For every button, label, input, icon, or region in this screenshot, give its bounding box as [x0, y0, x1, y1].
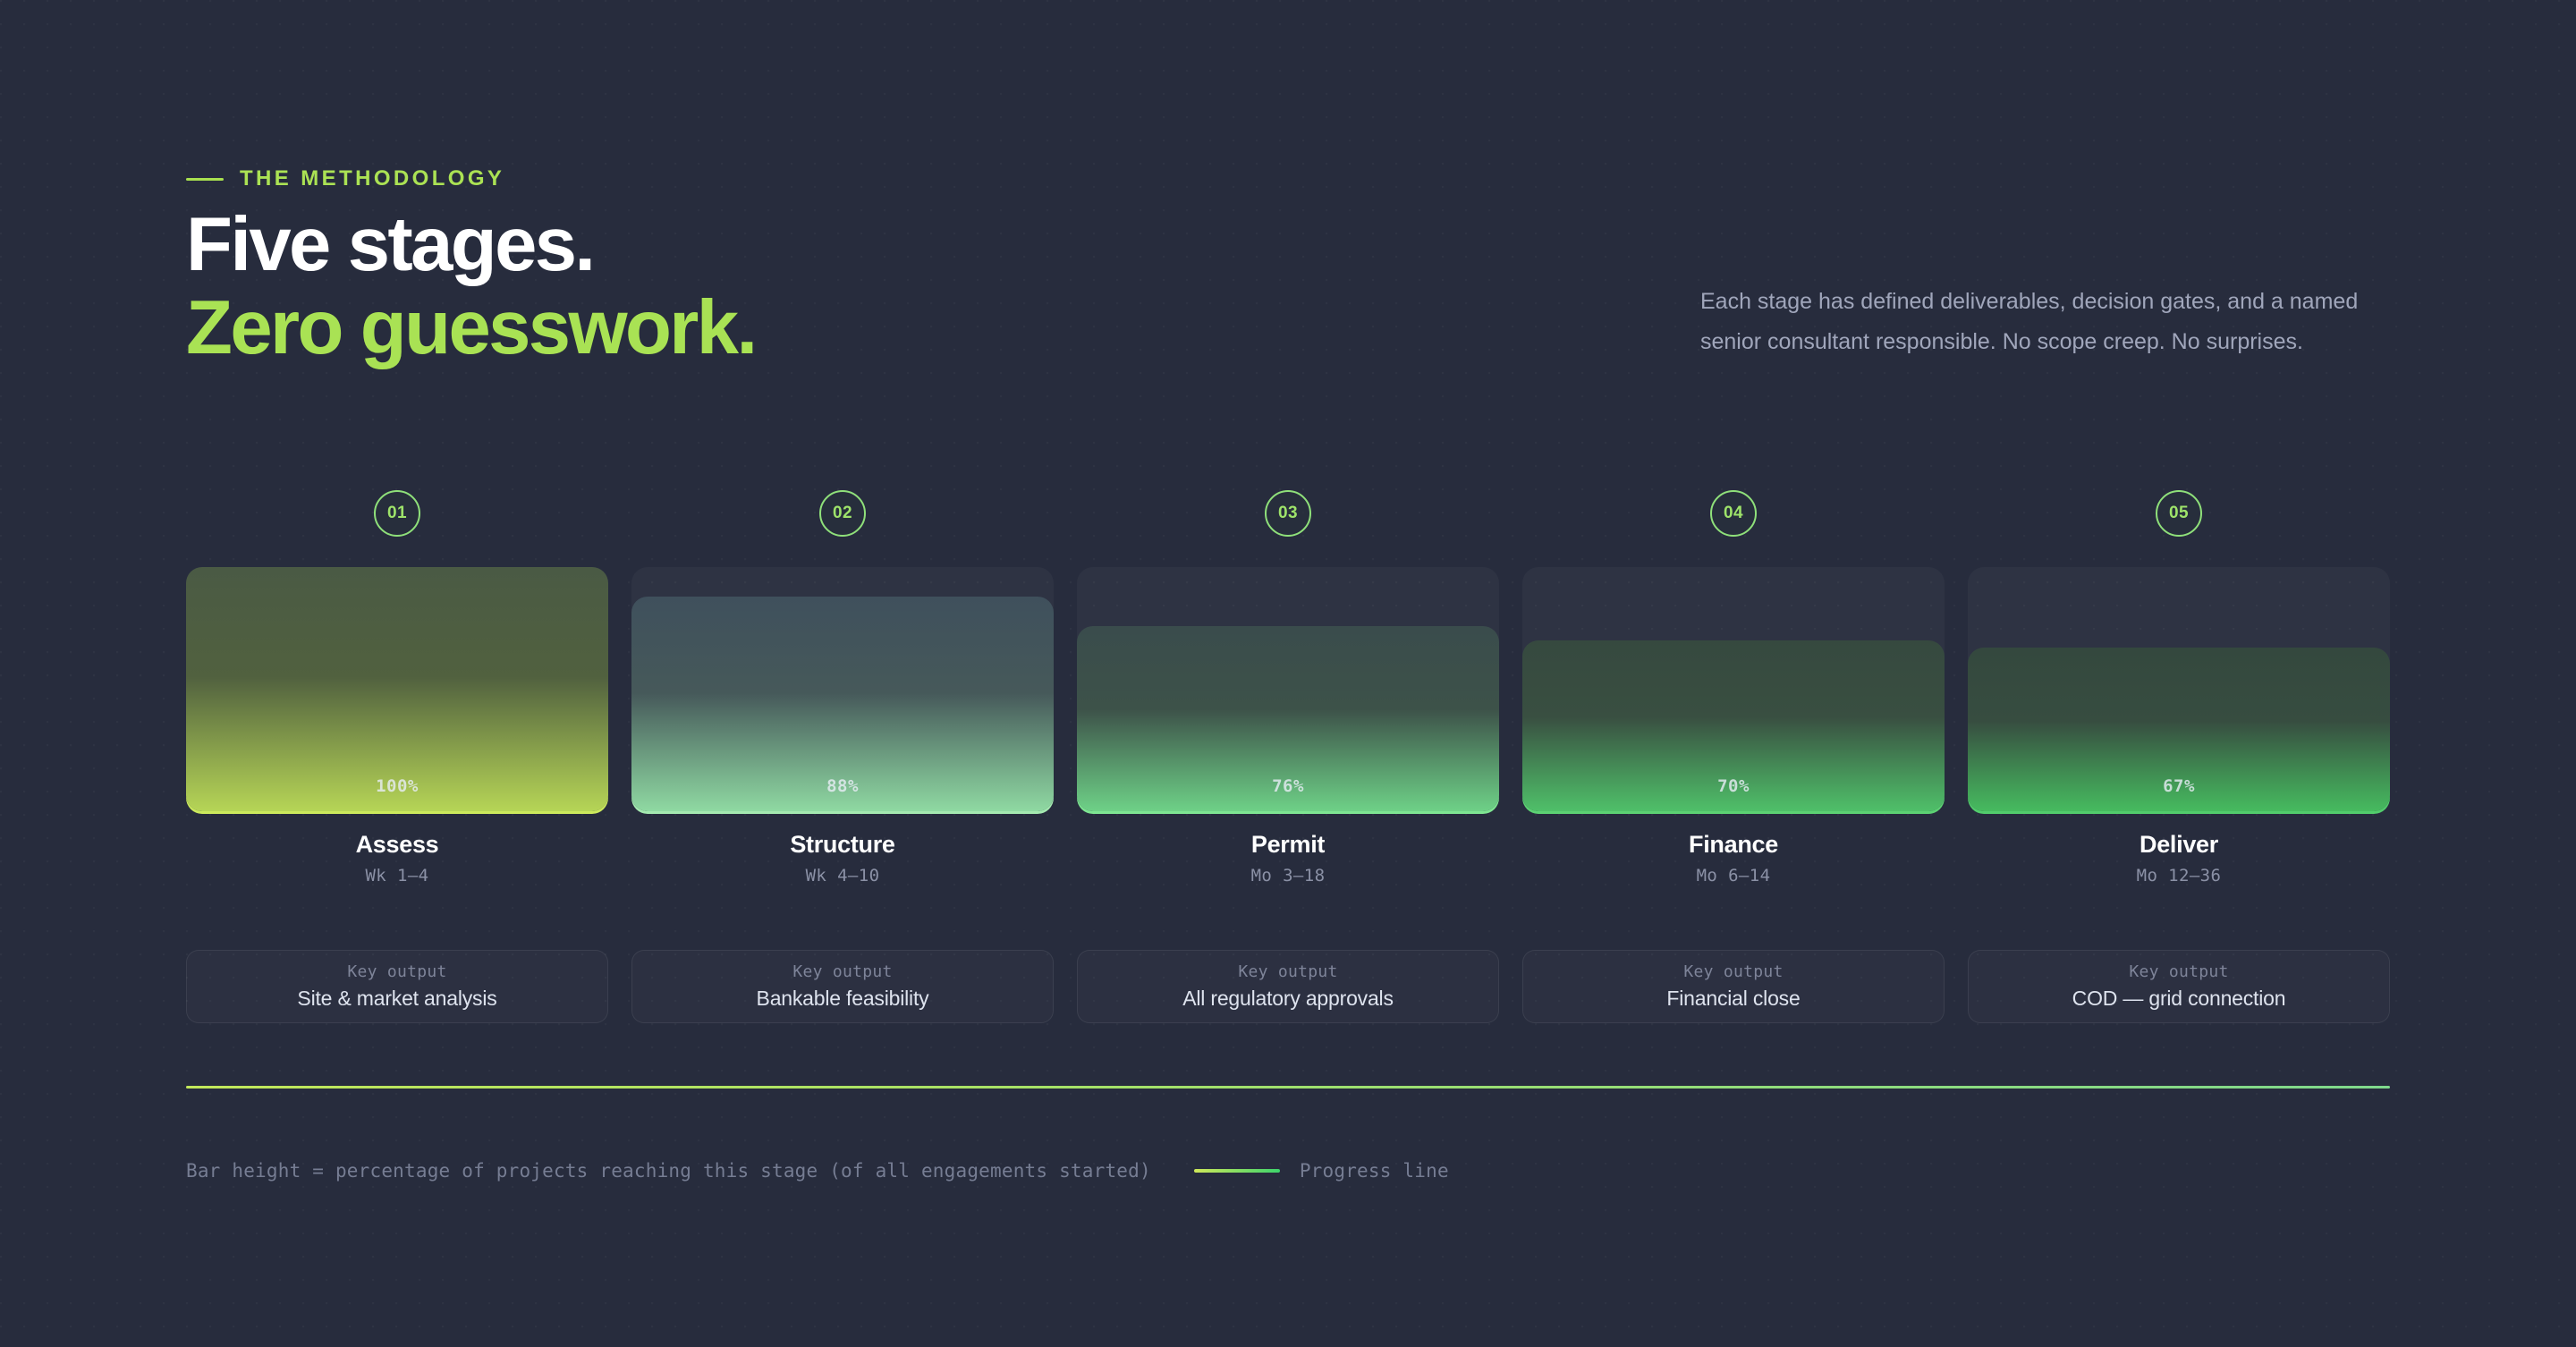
key-output-label: Key output [1238, 962, 1337, 981]
intro-paragraph: Each stage has defined deliverables, dec… [1700, 282, 2385, 361]
stage-name: Deliver [2140, 831, 2218, 859]
headline-line-2: Zero guesswork. [186, 287, 1528, 370]
bar[interactable]: 100% [186, 567, 608, 811]
key-output-label: Key output [1683, 962, 1783, 981]
stage-column-assess[interactable]: 01 100% Assess Wk 1–4 [186, 490, 608, 911]
key-output-value: Site & market analysis [297, 987, 496, 1011]
legend-swatch-icon [1194, 1169, 1280, 1173]
bar-percent-label: 100% [376, 776, 419, 796]
key-output-value: All regulatory approvals [1182, 987, 1394, 1011]
bar[interactable]: 88% [631, 597, 1054, 811]
key-output-card[interactable]: Key output Financial close [1522, 950, 1945, 1023]
bar-track-wrap: 88% [631, 567, 1054, 811]
bar-percent-label: 70% [1717, 776, 1750, 796]
stage-column-structure[interactable]: 02 88% Structure Wk 4–10 [631, 490, 1054, 911]
bar-track-wrap: 67% [1968, 567, 2390, 811]
key-output-row: Key output Site & market analysis Key ou… [186, 950, 2390, 1023]
chart-footer: Bar height = percentage of projects reac… [186, 1160, 1449, 1182]
stage-column-deliver[interactable]: 05 67% Deliver Mo 12–36 [1968, 490, 2390, 911]
stage-name: Structure [790, 831, 894, 859]
bar[interactable]: 67% [1968, 648, 2390, 811]
stage-column-finance[interactable]: 04 70% Finance Mo 6–14 [1522, 490, 1945, 911]
key-output-card[interactable]: Key output COD — grid connection [1968, 950, 2390, 1023]
eyebrow-dash-icon [186, 178, 224, 181]
stage-badge: 05 [2156, 490, 2202, 537]
eyebrow: THE METHODOLOGY [186, 166, 504, 191]
stage-badge: 01 [374, 490, 420, 537]
stages-chart: 01 100% Assess Wk 1–4 02 88% Structure W… [186, 490, 2390, 911]
chart-caption: Bar height = percentage of projects reac… [186, 1160, 1151, 1182]
stage-name: Assess [356, 831, 439, 859]
bar-track-wrap: 70% [1522, 567, 1945, 811]
chart-legend: Progress line [1194, 1160, 1449, 1182]
headline-line-1: Five stages. [186, 204, 1528, 287]
stage-badge: 03 [1265, 490, 1311, 537]
key-output-card[interactable]: Key output Site & market analysis [186, 950, 608, 1023]
legend-label: Progress line [1300, 1160, 1449, 1182]
key-output-label: Key output [347, 962, 446, 981]
bar-track-wrap: 76% [1077, 567, 1499, 811]
stage-badge: 04 [1710, 490, 1757, 537]
stage-badge: 02 [819, 490, 866, 537]
stage-timeline: Mo 3–18 [1251, 866, 1326, 885]
eyebrow-label: THE METHODOLOGY [240, 166, 504, 191]
key-output-card[interactable]: Key output All regulatory approvals [1077, 950, 1499, 1023]
bar[interactable]: 70% [1522, 640, 1945, 811]
stage-timeline: Wk 4–10 [806, 866, 880, 885]
bar-percent-label: 76% [1272, 776, 1304, 796]
stage-column-permit[interactable]: 03 76% Permit Mo 3–18 [1077, 490, 1499, 911]
bar[interactable]: 76% [1077, 626, 1499, 811]
key-output-label: Key output [2129, 962, 2228, 981]
page-title: Five stages. Zero guesswork. [186, 204, 1528, 369]
key-output-value: Bankable feasibility [757, 987, 929, 1011]
key-output-value: COD — grid connection [2072, 987, 2286, 1011]
stage-timeline: Mo 6–14 [1697, 866, 1771, 885]
section-divider [186, 1086, 2390, 1089]
key-output-card[interactable]: Key output Bankable feasibility [631, 950, 1054, 1023]
stage-timeline: Mo 12–36 [2137, 866, 2222, 885]
stage-name: Permit [1251, 831, 1325, 859]
stage-timeline: Wk 1–4 [365, 866, 428, 885]
key-output-label: Key output [792, 962, 892, 981]
bar-percent-label: 88% [826, 776, 859, 796]
key-output-value: Financial close [1666, 987, 1800, 1011]
bar-track-wrap: 100% [186, 567, 608, 811]
bar-percent-label: 67% [2163, 776, 2195, 796]
methodology-section: THE METHODOLOGY Five stages. Zero guessw… [186, 0, 2390, 1347]
stage-name: Finance [1689, 831, 1778, 859]
